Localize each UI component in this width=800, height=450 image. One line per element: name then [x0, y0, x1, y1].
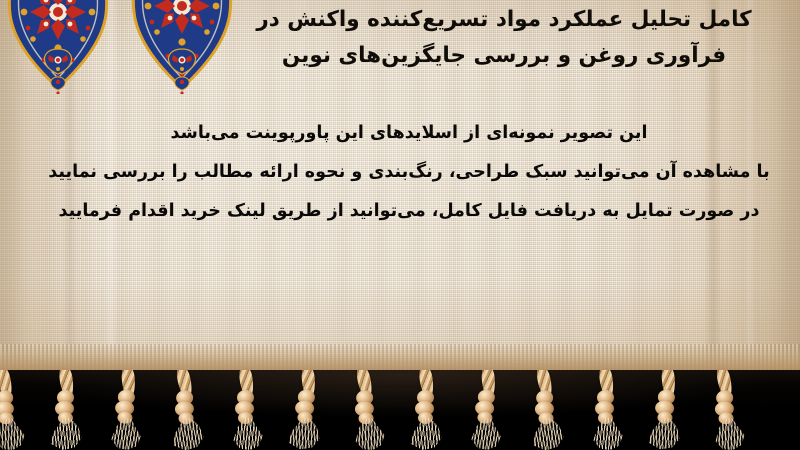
fringe-tassel	[44, 370, 96, 450]
slide-body-line: این تصویر نمونه‌ای از اسلایدهای این پاور…	[44, 114, 774, 153]
tassel-threads	[351, 417, 387, 450]
tassel-threads	[711, 417, 747, 450]
slide-body-text: این تصویر نمونه‌ای از اسلایدهای این پاور…	[44, 114, 774, 231]
slide-body-line: در صورت تمایل به دریافت فایل کامل، می‌تو…	[44, 192, 774, 231]
fringe-tassel	[701, 370, 758, 450]
fringe-tassel	[584, 370, 636, 450]
fringe-tassel	[161, 370, 218, 450]
presentation-slide: کامل تحلیل عملکرد مواد تسریع‌کننده واکنش…	[0, 0, 800, 450]
carpet-pendant-icon	[166, 48, 198, 94]
tassel-threads	[230, 418, 264, 450]
fringe-tassel	[101, 370, 158, 450]
slide-title-line: کامل تحلیل عملکرد مواد تسریع‌کننده واکنش…	[230, 2, 778, 38]
tassel-threads	[467, 417, 503, 450]
fringe-tassel	[641, 370, 698, 450]
carpet-pendant-icon	[42, 48, 74, 94]
slide-body-line: با مشاهده آن می‌توانید سبک طراحی، رنگ‌بن…	[44, 153, 774, 192]
tassel-threads	[410, 418, 444, 450]
tassel-threads	[50, 418, 84, 450]
fringe-tassel	[461, 370, 518, 450]
fringe-tassel	[521, 370, 578, 450]
tassel-threads	[531, 417, 567, 450]
fringe-tassel	[224, 370, 276, 450]
slide-title: کامل تحلیل عملکرد مواد تسریع‌کننده واکنش…	[230, 2, 778, 73]
fringe-tassel	[0, 370, 39, 450]
tassel-threads	[287, 417, 323, 450]
slide-title-line: فرآوری روغن و بررسی جایگزین‌های نوین	[230, 38, 778, 74]
fringe-tassel	[281, 370, 338, 450]
fringe-tassel	[404, 370, 456, 450]
tassel-threads	[0, 417, 27, 450]
tassel-threads	[647, 417, 683, 450]
tassel-threads	[107, 417, 143, 450]
tassel-threads	[590, 418, 624, 450]
fringe-tassel	[341, 370, 398, 450]
carpet-fringe-row	[0, 370, 800, 450]
tassel-threads	[171, 417, 207, 450]
